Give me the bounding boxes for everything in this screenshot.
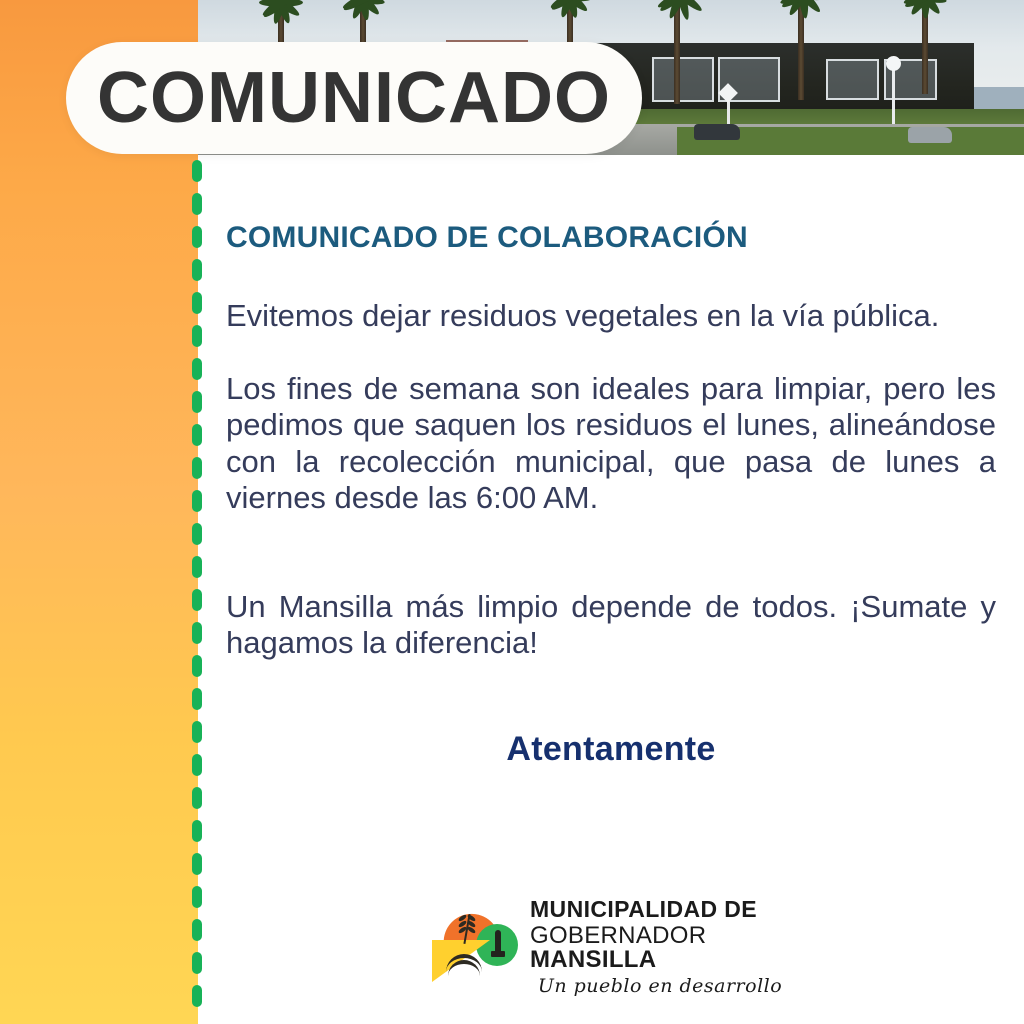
wheat-icon <box>460 914 474 944</box>
logo-tagline: Un pueblo en desarrollo <box>530 977 790 996</box>
dash-segment <box>192 325 202 347</box>
photo-window <box>826 59 880 100</box>
dash-segment <box>192 292 202 314</box>
logo-line-2-light: GOBERNADOR <box>530 922 706 949</box>
dash-segment <box>192 457 202 479</box>
paragraph-1: Evitemos dejar residuos vegetales en la … <box>226 298 996 335</box>
dash-segment <box>192 820 202 842</box>
photo-car <box>694 124 740 140</box>
dash-segment <box>192 391 202 413</box>
street-lamp-icon <box>892 68 895 124</box>
dash-segment <box>192 490 202 512</box>
monument-icon <box>491 930 505 960</box>
dash-segment <box>192 556 202 578</box>
dash-segment <box>192 655 202 677</box>
comunicado-poster: COMUNICADO COMUNICADO DE COLABORACIÓN Ev… <box>0 0 1024 1024</box>
dash-segment <box>192 985 202 1007</box>
logo-line-2-bold: MANSILLA <box>530 946 656 973</box>
photo-window <box>652 57 714 101</box>
dash-segment <box>192 919 202 941</box>
dash-segment <box>192 688 202 710</box>
dash-segment <box>192 622 202 644</box>
paragraph-2: Los fines de semana son ideales para lim… <box>226 371 996 517</box>
dash-segment <box>192 424 202 446</box>
dash-segment <box>192 589 202 611</box>
dash-segment <box>192 358 202 380</box>
logo-line-1: MUNICIPALIDAD DE <box>530 898 790 921</box>
dash-segment <box>192 523 202 545</box>
dash-segment <box>192 160 202 182</box>
dash-segment <box>192 193 202 215</box>
dash-segment <box>192 226 202 248</box>
photo-car <box>908 127 952 143</box>
dash-segment <box>192 853 202 875</box>
dash-segment <box>192 787 202 809</box>
page-title: COMUNICADO <box>97 62 611 134</box>
title-card: COMUNICADO <box>66 42 642 154</box>
logo-text-block: MUNICIPALIDAD DE GOBERNADOR MANSILLA Un … <box>530 898 790 996</box>
green-dashed-divider <box>192 160 202 1024</box>
section-subtitle: COMUNICADO DE COLABORACIÓN <box>226 220 996 256</box>
logo-line-2: GOBERNADOR MANSILLA <box>530 924 790 972</box>
dash-segment <box>192 721 202 743</box>
dash-segment <box>192 886 202 908</box>
main-content: COMUNICADO DE COLABORACIÓN Evitemos deja… <box>226 198 996 769</box>
dash-segment <box>192 952 202 974</box>
paragraph-3: Un Mansilla más limpio depende de todos.… <box>226 589 996 662</box>
municipality-logo: MUNICIPALIDAD DE GOBERNADOR MANSILLA Un … <box>430 902 790 992</box>
dash-segment <box>192 754 202 776</box>
signoff-text: Atentamente <box>226 730 996 769</box>
logo-mark <box>430 908 522 986</box>
dash-segment <box>192 259 202 281</box>
